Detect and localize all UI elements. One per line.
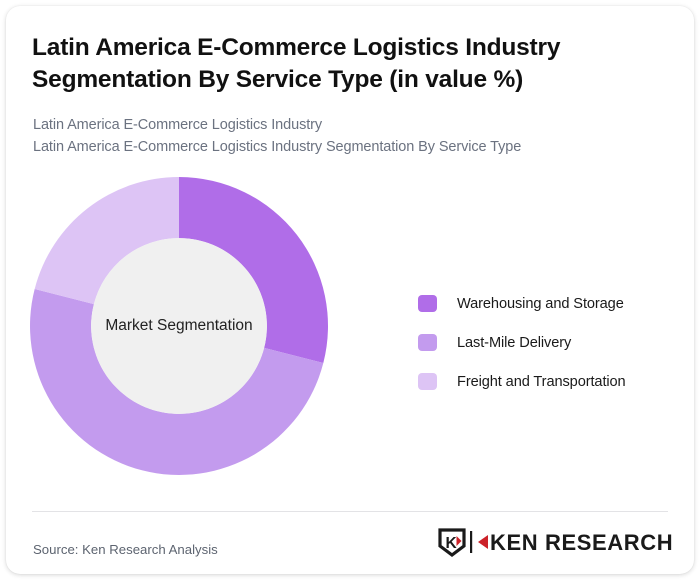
legend-label-warehousing: Warehousing and Storage <box>457 296 624 312</box>
chart-card: Latin America E-Commerce Logistics Indus… <box>6 6 694 574</box>
svg-text:KEN RESEARCH: KEN RESEARCH <box>490 530 673 555</box>
legend-item-freight-transportation[interactable]: Freight and Transportation <box>418 362 668 401</box>
legend-label-last-mile-delivery: Last-Mile Delivery <box>457 335 571 351</box>
footer-divider <box>32 511 668 512</box>
ken-research-logo: K KEN RESEARCH <box>437 525 674 559</box>
ken-research-wordmark: KEN RESEARCH <box>468 527 674 557</box>
svg-text:K: K <box>446 535 458 552</box>
donut-chart: Market Segmentation <box>27 174 331 478</box>
legend-swatch-warehousing <box>418 295 437 312</box>
chart-legend: Warehousing and Storage Last-Mile Delive… <box>418 284 668 401</box>
donut-hole <box>91 238 267 414</box>
donut-svg <box>27 174 331 478</box>
legend-swatch-last-mile-delivery <box>418 334 437 351</box>
source-text: Source: Ken Research Analysis <box>33 542 218 557</box>
chart-area: Market Segmentation Warehousing and Stor… <box>6 6 694 574</box>
ken-research-shield-icon: K <box>437 527 467 557</box>
legend-label-freight-transportation: Freight and Transportation <box>457 374 626 390</box>
legend-item-last-mile-delivery[interactable]: Last-Mile Delivery <box>418 323 668 362</box>
legend-swatch-freight-transportation <box>418 373 437 390</box>
legend-item-warehousing[interactable]: Warehousing and Storage <box>418 284 668 323</box>
